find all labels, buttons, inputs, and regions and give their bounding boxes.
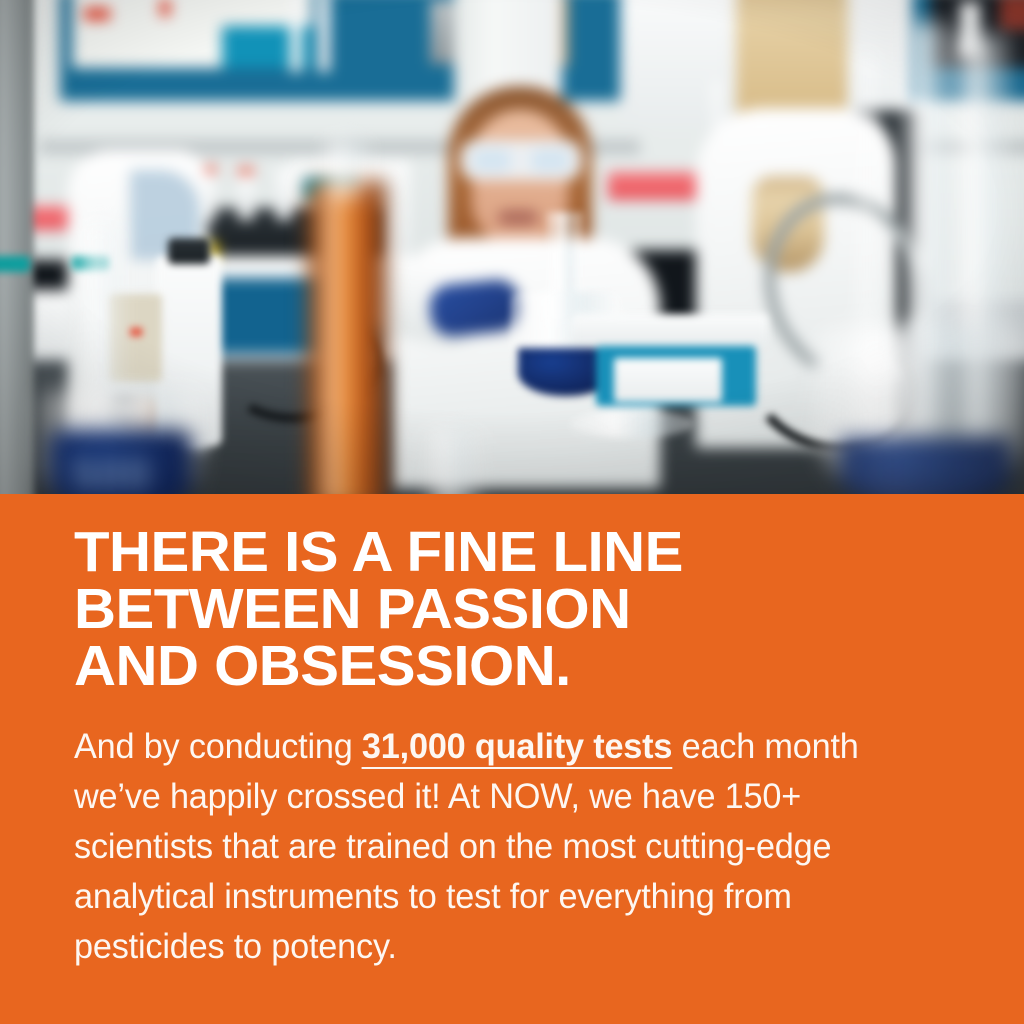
page-title: THERE IS A FINE LINE BETWEEN PASSION AND… (74, 524, 968, 695)
photo-foreground-layer: 500 (0, 0, 1024, 494)
body-paragraph: And by conducting 31,000 quality tests e… (74, 721, 919, 971)
amber-column (308, 180, 386, 494)
orange-message-panel: THERE IS A FINE LINE BETWEEN PASSION AND… (0, 494, 1024, 1024)
social-media-graphic: 500 THERE IS A FINE LINE BETWEEN PASSION… (0, 0, 1024, 1024)
lab-photo: 500 (0, 0, 1024, 494)
amber-column-highlight (322, 184, 340, 494)
foreground-flask-volume-label: 500 (72, 450, 151, 494)
body-text-before: And by conducting (74, 726, 362, 766)
stat-emphasis-quality-tests: 31,000 quality tests (362, 726, 672, 769)
foreground-flask-right-glare (852, 352, 902, 382)
foreground-flask-left-glare (110, 396, 154, 422)
foreground-glass-stopper (430, 430, 476, 494)
foreground-flask-right-liquid (840, 438, 1010, 494)
